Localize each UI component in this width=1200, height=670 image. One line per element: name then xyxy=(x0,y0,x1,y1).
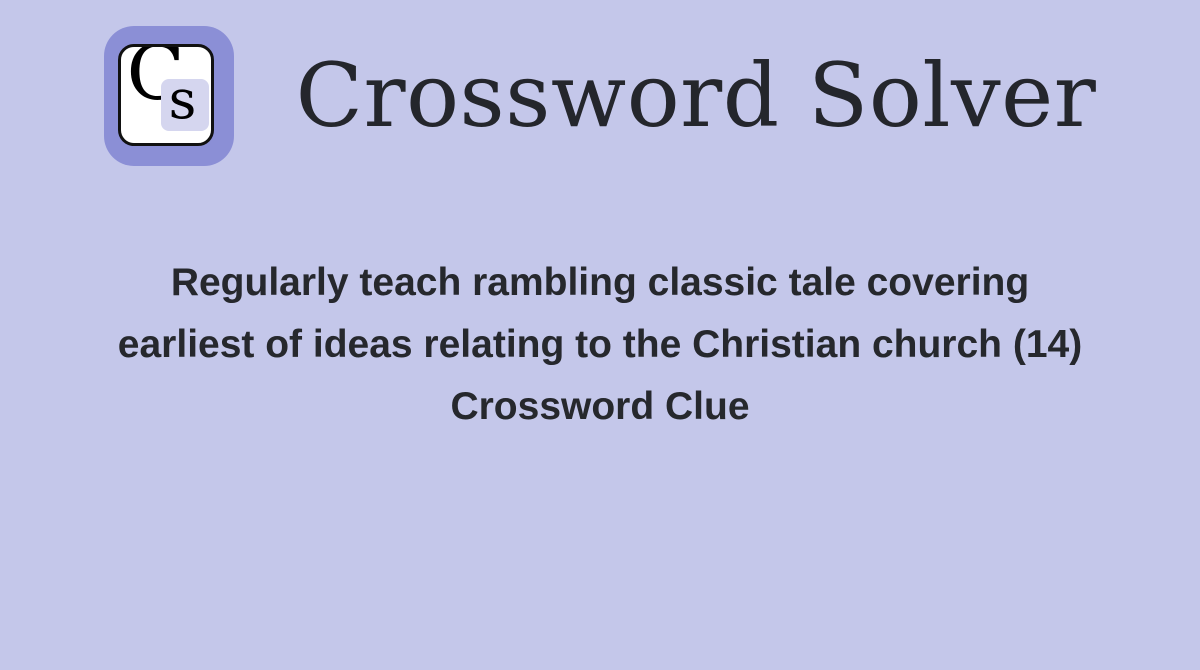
clue-suffix-label: Crossword Clue xyxy=(100,376,1100,438)
site-logo-link[interactable]: C s Crossword Solver xyxy=(104,26,1097,166)
page-title: Regularly teach rambling classic tale co… xyxy=(100,252,1100,438)
clue-block: Regularly teach rambling classic tale co… xyxy=(100,252,1100,438)
site-title: Crossword Solver xyxy=(296,52,1097,140)
clue-text: Regularly teach rambling classic tale co… xyxy=(118,261,1082,366)
crossword-solver-logo-icon: C s xyxy=(104,26,234,166)
logo-letter-s: s xyxy=(169,73,197,127)
page-root: C s Crossword Solver Regularly teach ram… xyxy=(0,0,1200,670)
logo-tile: C s xyxy=(118,44,214,146)
site-header: C s Crossword Solver xyxy=(0,26,1200,166)
